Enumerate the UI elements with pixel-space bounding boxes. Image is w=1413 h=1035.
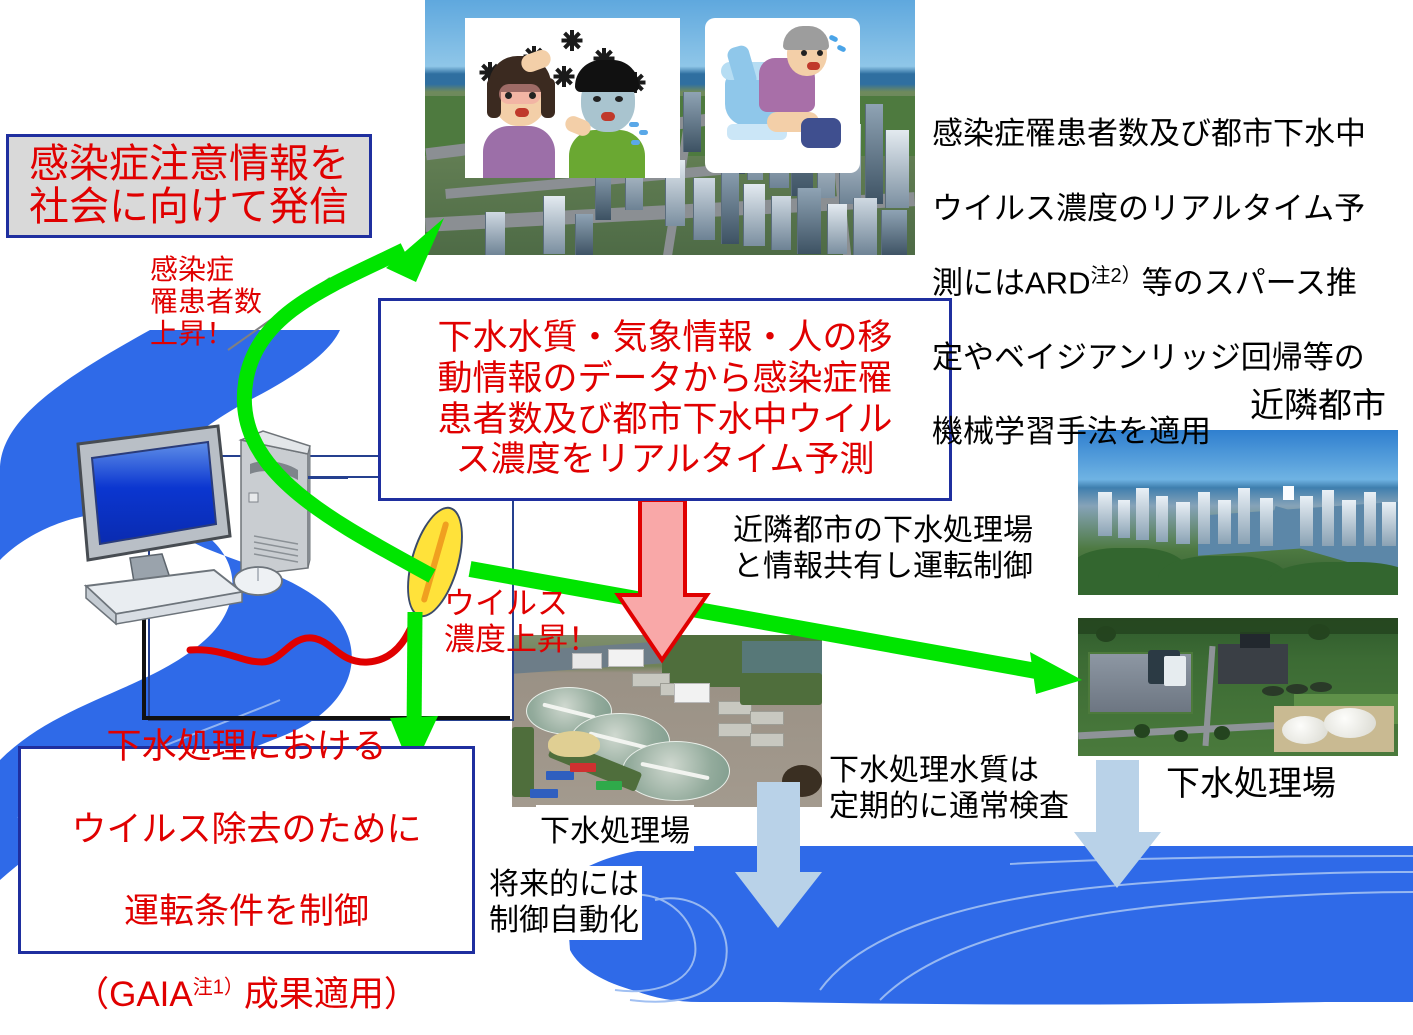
routine-inspection-note: 下水処理水質は 定期的に通常検査 — [826, 752, 1072, 826]
alert-box-text: 感染症注意情報を 社会に向けて発信 — [29, 143, 349, 229]
realtime-prediction-box: 下水水質・気象情報・人の移 動情報のデータから感染症罹 患者数及び都市下水中ウイ… — [378, 298, 952, 501]
sick-people-illustration — [465, 18, 680, 178]
infection-rise-note: 感染症 罹患者数 上昇！ — [150, 254, 262, 350]
plant-label-center: 下水処理場 — [536, 805, 694, 851]
future-automation-note: 将来的には 制御自動化 — [486, 866, 642, 940]
ml-note-line3-post: 等のスパース推 — [1142, 265, 1357, 300]
nearby-city-aerial-photo — [1078, 430, 1398, 595]
control-line2: ウイルス除去のために — [71, 810, 421, 849]
nearby-city-label: 近隣都市 — [1247, 378, 1389, 427]
operation-control-box: 下水処理における ウイルス除去のために 運転条件を制御 （GAIA注1）成果適用… — [18, 746, 475, 954]
virus-concentration-rise-note: ウイルス 濃度上昇！ — [444, 586, 599, 658]
control-box-text: 下水処理における ウイルス除去のために 運転条件を制御 （GAIA注1）成果適用… — [71, 685, 421, 1015]
information-sharing-note: 近隣都市の下水処理場 と情報共有し運転制御 — [730, 512, 1036, 586]
control-line4-post: 成果適用） — [244, 975, 419, 1014]
remote-sewage-treatment-plant-photo — [1078, 618, 1398, 756]
control-superscript: 注1） — [193, 976, 244, 998]
alert-dissemination-box: 感染症注意情報を 社会に向けて発信 — [6, 134, 372, 238]
pc-to-box-connector — [308, 476, 380, 478]
plant-label-remote: 下水処理場 — [1163, 756, 1339, 805]
ml-note-line2: ウイルス濃度のリアルタイム予 — [932, 191, 1365, 226]
control-line3: 運転条件を制御 — [124, 892, 369, 931]
ml-note-line4: 定やベイジアンリッジ回帰等の — [932, 340, 1365, 375]
ml-note-line1: 感染症罹患者数及び都市下水中 — [932, 116, 1366, 151]
diagram-canvas: 感染症注意情報を 社会に向けて発信 感染症 罹患者数 上昇！ 下水水質・気象情報… — [0, 0, 1413, 1035]
control-line4-pre: （GAIA — [74, 975, 193, 1014]
control-line1: 下水処理における — [106, 727, 386, 766]
light-blue-arrow-down-right — [1074, 760, 1161, 888]
computer-illustration — [58, 418, 348, 648]
ml-note-superscript: 注2） — [1090, 265, 1141, 287]
ml-note-line5: 機械学習手法を適用 — [932, 414, 1211, 449]
predict-box-text: 下水水質・気象情報・人の移 動情報のデータから感染症罹 患者数及び都市下水中ウイ… — [437, 318, 892, 480]
person-on-toilet-illustration — [705, 18, 860, 173]
ml-note-line3-pre: 測にはARD — [932, 265, 1090, 300]
sewage-treatment-plant-photo — [512, 635, 822, 807]
aerial-city-photo — [425, 0, 915, 255]
